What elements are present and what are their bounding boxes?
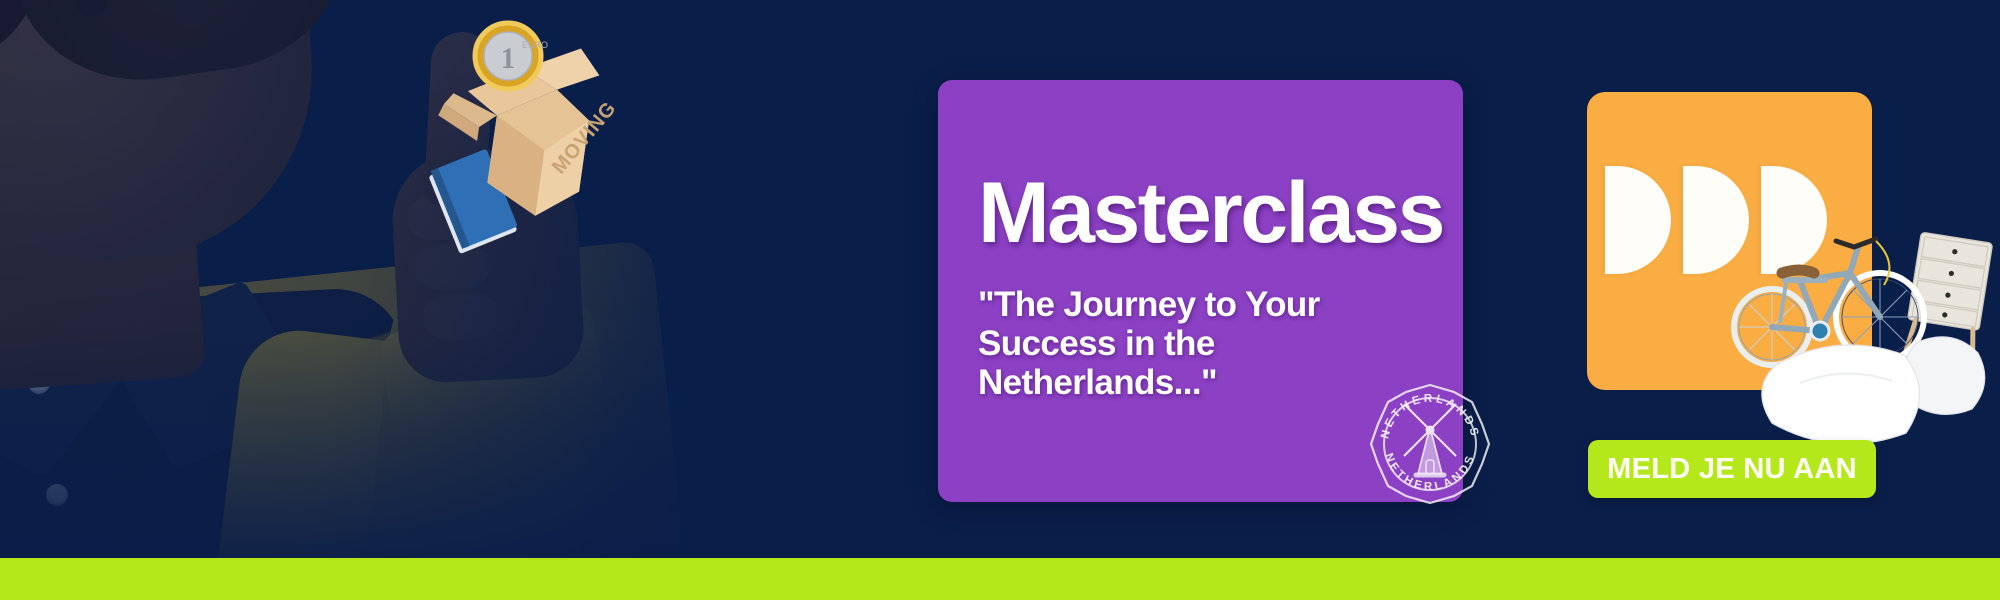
signup-cta-label: MELD JE NU AAN (1607, 453, 1857, 486)
photo-layers (0, 0, 820, 560)
promo-banner: MOVING 1 EURO Masterclass "The Journey t… (0, 0, 2000, 600)
semicircle-1 (1605, 166, 1671, 274)
moving-box-illustration: MOVING 1 EURO (418, 8, 628, 258)
netherlands-stamp-badge: NETHERLANDS NETHERLANDS (1368, 382, 1492, 506)
hero-photo-man (0, 0, 820, 560)
pillow-icon (1762, 337, 1985, 444)
moving-items-illustration (1730, 225, 2000, 470)
svg-text:1: 1 (501, 42, 516, 75)
bottom-accent-bar (0, 558, 2000, 600)
signup-cta-button[interactable]: MELD JE NU AAN (1588, 440, 1876, 498)
masterclass-title: Masterclass (978, 170, 1443, 256)
windmill-icon (1404, 404, 1456, 477)
photo-bottom-fade (0, 0, 820, 560)
masterclass-subtitle: "The Journey to Your Success in the Neth… (978, 285, 1378, 403)
svg-text:EURO: EURO (522, 40, 548, 50)
